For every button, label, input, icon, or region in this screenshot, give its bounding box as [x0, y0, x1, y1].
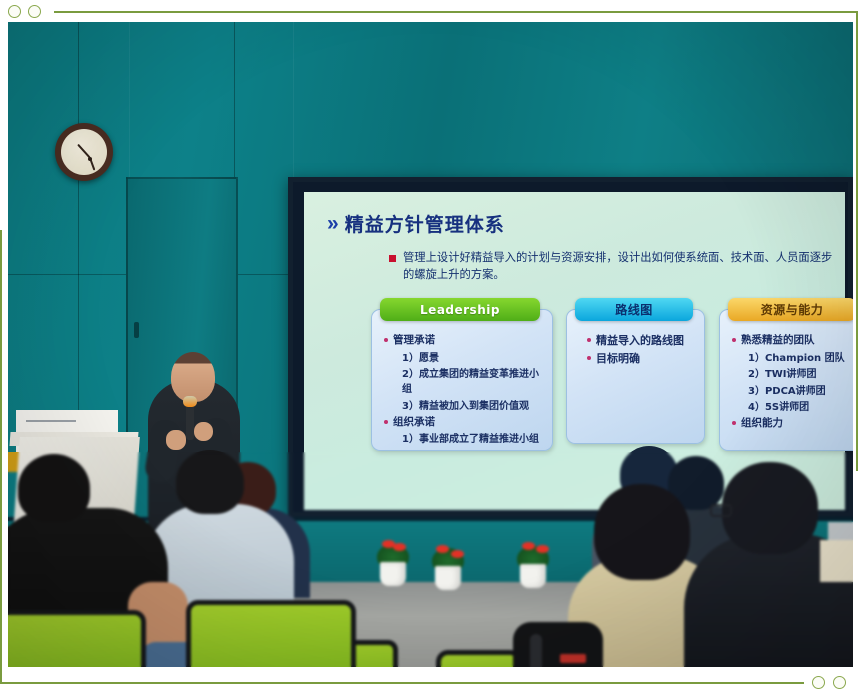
bullet-dot-icon	[587, 338, 591, 342]
card-header-resources: 资源与能力	[728, 298, 853, 321]
slide-card-leadership: Leadership 管理承诺 1）愿景 2）成立集团的精益变革推进小组 3）精…	[371, 309, 553, 451]
attendee-head	[18, 454, 90, 522]
attendee-head	[722, 462, 818, 554]
card-body-resources: 熟悉精益的团队 1）Champion 团队 2）TWI讲师团 3）PDCA讲师团…	[720, 330, 853, 431]
plant-flower	[522, 542, 535, 550]
presenter-hand-right	[194, 422, 213, 441]
microphone-head	[183, 396, 197, 407]
list-item-label: 组织承诺	[393, 414, 435, 429]
plant-pot	[380, 562, 406, 586]
list-item-label: 组织能力	[741, 415, 783, 430]
backpack-strap	[530, 634, 542, 667]
list-item-label: 目标明确	[596, 350, 640, 366]
slide-title-row: » 精益方针管理体系	[327, 210, 505, 237]
plant-pot	[435, 566, 461, 590]
backpack	[513, 622, 603, 667]
door-handle	[134, 322, 139, 338]
bullet-dot-icon	[732, 338, 736, 342]
chair	[436, 650, 522, 667]
double-chevron-icon: »	[327, 212, 337, 236]
presenter-head	[171, 352, 215, 402]
frame-line-top	[54, 11, 858, 13]
list-item: 精益导入的路线图	[587, 332, 698, 348]
card-body-leadership: 管理承诺 1）愿景 2）成立集团的精益变革推进小组 3）精益被加入到集团价值观 …	[372, 330, 552, 447]
frame-circle-bottom-right-1	[812, 676, 825, 689]
card-header-label: 路线图	[615, 301, 653, 318]
list-subitem: 1）Champion 团队	[748, 349, 853, 364]
frame-circle-top-left-2	[28, 5, 41, 18]
chair	[186, 600, 356, 667]
card-header-leadership: Leadership	[380, 298, 540, 321]
slide-card-resources: 资源与能力 熟悉精益的团队 1）Champion 团队 2）TWI讲师团 3）P…	[719, 309, 853, 451]
presenter-hand-left	[166, 430, 186, 450]
square-bullet-icon	[389, 255, 396, 262]
clock-center-pin	[88, 157, 92, 161]
list-item: 组织能力	[732, 415, 853, 430]
eyeglasses	[710, 504, 732, 517]
list-item-label: 熟悉精益的团队	[741, 332, 815, 347]
plant-flower	[393, 543, 406, 551]
frame-circle-top-left-1	[8, 5, 21, 18]
frame-circle-bottom-right-2	[833, 676, 846, 689]
list-item: 组织承诺	[384, 414, 546, 429]
bullet-dot-icon	[384, 338, 388, 342]
frame-line-left	[0, 230, 2, 682]
card-header-roadmap: 路线图	[575, 298, 693, 321]
clock-face	[61, 129, 107, 175]
slide-title: 精益方针管理体系	[345, 210, 505, 237]
slide-card-roadmap: 路线图 精益导入的路线图 目标明确	[566, 309, 705, 444]
list-item: 管理承诺	[384, 332, 546, 347]
list-subitem: 2）TWI讲师团	[748, 365, 853, 380]
list-subitem: 1）愿景	[402, 349, 546, 364]
attendee-head	[594, 484, 690, 580]
bullet-dot-icon	[384, 420, 388, 424]
list-item-label: 精益导入的路线图	[596, 332, 684, 348]
frame-line-bottom	[0, 682, 804, 684]
list-item: 目标明确	[587, 350, 698, 366]
training-session-photo: » 精益方针管理体系 管理上设计好精益导入的计划与资源安排，设计出如何使系统面、…	[8, 22, 853, 667]
side-equipment	[828, 522, 853, 542]
list-subitem: 2）成立集团的精益变革推进小组	[402, 365, 546, 395]
chair	[8, 610, 146, 667]
slide-subtitle: 管理上设计好精益导入的计划与资源安排，设计出如何使系统面、技术面、人员面逐步的螺…	[403, 249, 843, 283]
list-item-label: 管理承诺	[393, 332, 435, 347]
card-body-roadmap: 精益导入的路线图 目标明确	[567, 330, 704, 367]
bullet-dot-icon	[587, 356, 591, 360]
plant-flower	[536, 545, 549, 553]
list-subitem: 3）精益被加入到集团价值观	[402, 397, 546, 412]
microphone	[186, 402, 194, 440]
card-header-label: 资源与能力	[761, 301, 824, 318]
list-subitem: 4）5S讲师团	[748, 398, 853, 413]
attendee-head	[176, 450, 244, 514]
bullet-dot-icon	[732, 421, 736, 425]
slide-subtitle-row: 管理上设计好精益导入的计划与资源安排，设计出如何使系统面、技术面、人员面逐步的螺…	[389, 249, 843, 283]
list-subitem: 3）PDCA讲师团	[748, 382, 853, 397]
flip-chart-line	[26, 420, 76, 422]
backpack-logo	[560, 654, 586, 663]
plant-pot	[520, 564, 546, 588]
list-item: 熟悉精益的团队	[732, 332, 853, 347]
side-cabinet	[820, 540, 853, 582]
plant-flower	[451, 550, 464, 558]
plant-flower	[436, 545, 449, 553]
list-subitem: 1）事业部成立了精益推进小组	[402, 430, 546, 445]
card-header-label: Leadership	[420, 303, 500, 317]
wall-panel-seam-2	[234, 22, 294, 522]
wall-clock	[55, 123, 113, 181]
